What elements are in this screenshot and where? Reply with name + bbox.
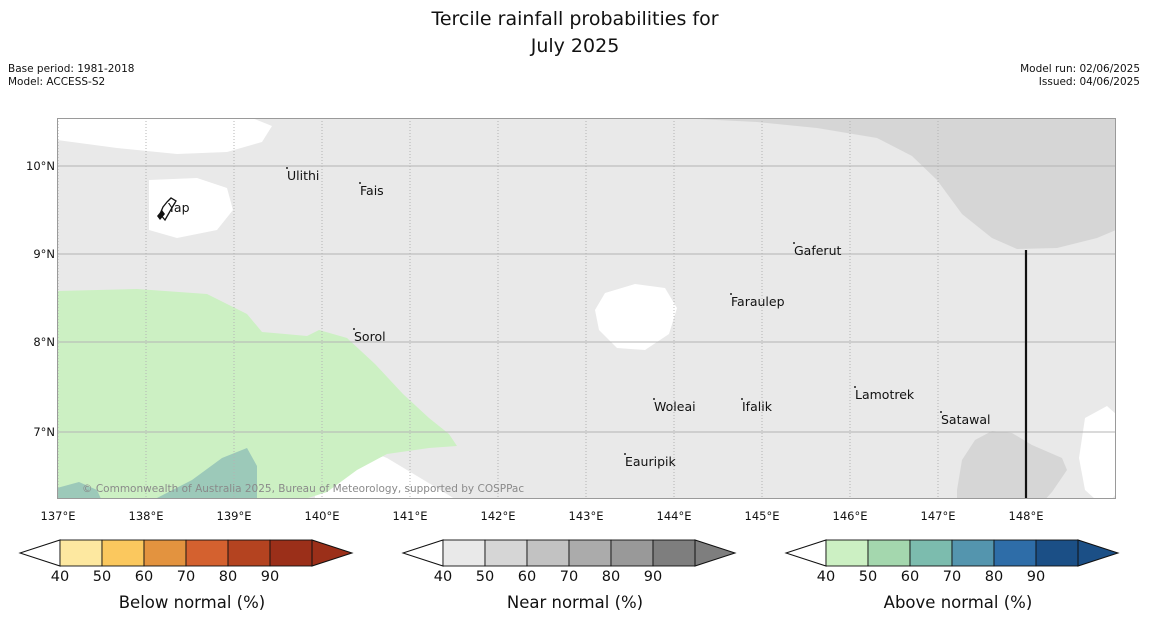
colorbar-tick-60: 60	[135, 569, 153, 585]
colorbar-band-0	[826, 540, 868, 566]
place-label-fais: Fais	[360, 183, 384, 198]
lon-tick-10: 147°E	[921, 509, 956, 523]
place-label-eauripik: Eauripik	[625, 454, 676, 469]
colorbar-over-arrow	[312, 540, 352, 566]
probability-map	[57, 118, 1116, 499]
lon-tick-1: 138°E	[129, 509, 164, 523]
colorbar-tick-50: 50	[476, 569, 494, 585]
colorbar-band-4	[228, 540, 270, 566]
colorbar-band-2	[144, 540, 186, 566]
lon-tick-8: 145°E	[745, 509, 780, 523]
model-run-text: Model run: 02/06/2025	[1020, 63, 1140, 76]
place-label-sorol: Sorol	[354, 329, 386, 344]
colorbar-band-1	[868, 540, 910, 566]
colorbar-under-arrow	[20, 540, 60, 566]
place-label-satawal: Satawal	[941, 412, 991, 427]
colorbar-over-arrow	[1078, 540, 1118, 566]
colorbar-tick-80: 80	[985, 569, 1003, 585]
colorbar-band-2	[910, 540, 952, 566]
place-label-yap: Yap	[168, 200, 190, 215]
colorbar-tick-70: 70	[943, 569, 961, 585]
colorbar-band-5	[653, 540, 695, 566]
place-label-lamotrek: Lamotrek	[855, 387, 914, 402]
colorbar-band-3	[186, 540, 228, 566]
colorbar-band-3	[952, 540, 994, 566]
lon-tick-7: 144°E	[657, 509, 692, 523]
place-label-ulithi: Ulithi	[287, 168, 319, 183]
colorbar-tick-40: 40	[51, 569, 69, 585]
colorbar-band-3	[569, 540, 611, 566]
map-shading-layer	[57, 118, 1116, 499]
lon-tick-4: 141°E	[393, 509, 428, 523]
lat-tick-0: 10°N	[26, 159, 55, 173]
colorbar-band-2	[527, 540, 569, 566]
colorbar-band-1	[485, 540, 527, 566]
map-canvas	[57, 118, 1116, 499]
colorbar-near-normal: 405060708090Near normal (%)	[395, 536, 755, 636]
colorbar-tick-70: 70	[177, 569, 195, 585]
lon-tick-2: 139°E	[217, 509, 252, 523]
lon-tick-0: 137°E	[41, 509, 76, 523]
lat-tick-3: 7°N	[33, 425, 55, 439]
colorbar-band-0	[60, 540, 102, 566]
metadata-left: Base period: 1981-2018 Model: ACCESS-S2	[8, 63, 134, 89]
title-line-2: July 2025	[0, 33, 1150, 60]
place-label-gaferut: Gaferut	[794, 243, 841, 258]
issued-text: Issued: 04/06/2025	[1020, 76, 1140, 89]
colorbar-tick-50: 50	[859, 569, 877, 585]
colorbar-title: Below normal (%)	[12, 593, 372, 612]
colorbar-tick-50: 50	[93, 569, 111, 585]
lon-tick-11: 148°E	[1009, 509, 1044, 523]
colorbar-tick-80: 80	[219, 569, 237, 585]
lat-tick-1: 9°N	[33, 247, 55, 261]
colorbar-tick-40: 40	[817, 569, 835, 585]
colorbar-tick-90: 90	[261, 569, 279, 585]
colorbar-band-4	[994, 540, 1036, 566]
page-title: Tercile rainfall probabilities for July …	[0, 6, 1150, 60]
place-label-woleai: Woleai	[654, 399, 696, 414]
colorbar-above-normal: 405060708090Above normal (%)	[778, 536, 1138, 636]
colorbar-under-arrow	[403, 540, 443, 566]
colorbar-band-1	[102, 540, 144, 566]
lon-tick-5: 142°E	[481, 509, 516, 523]
model-text: Model: ACCESS-S2	[8, 76, 134, 89]
colorbar-band-5	[1036, 540, 1078, 566]
title-line-1: Tercile rainfall probabilities for	[0, 6, 1150, 33]
map-credit: © Commonwealth of Australia 2025, Bureau…	[82, 483, 524, 495]
base-period-text: Base period: 1981-2018	[8, 63, 134, 76]
colorbar-below-normal: 405060708090Below normal (%)	[12, 536, 372, 636]
colorbar-title: Above normal (%)	[778, 593, 1138, 612]
colorbar-band-5	[270, 540, 312, 566]
colorbar-tick-90: 90	[1027, 569, 1045, 585]
lon-tick-9: 146°E	[833, 509, 868, 523]
colorbar-tick-60: 60	[518, 569, 536, 585]
lon-tick-3: 140°E	[305, 509, 340, 523]
colorbar-tick-80: 80	[602, 569, 620, 585]
place-label-ifalik: Ifalik	[742, 399, 772, 414]
colorbar-band-4	[611, 540, 653, 566]
colorbar-band-0	[443, 540, 485, 566]
place-label-faraulep: Faraulep	[731, 294, 785, 309]
colorbar-tick-60: 60	[901, 569, 919, 585]
lon-tick-6: 143°E	[569, 509, 604, 523]
colorbar-over-arrow	[695, 540, 735, 566]
colorbar-tick-70: 70	[560, 569, 578, 585]
lat-tick-2: 8°N	[33, 335, 55, 349]
metadata-right: Model run: 02/06/2025 Issued: 04/06/2025	[1020, 63, 1140, 89]
colorbar-title: Near normal (%)	[395, 593, 755, 612]
colorbar-tick-90: 90	[644, 569, 662, 585]
colorbar-tick-40: 40	[434, 569, 452, 585]
colorbar-under-arrow	[786, 540, 826, 566]
